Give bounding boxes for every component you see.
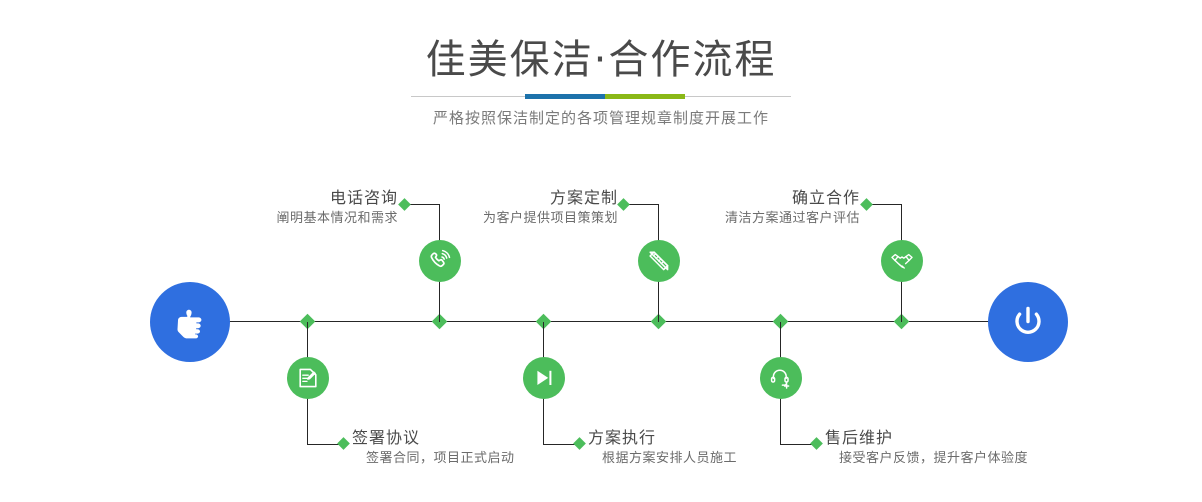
timeline-end-node[interactable] xyxy=(988,282,1068,362)
page-title: 佳美保洁·合作流程 xyxy=(0,36,1202,84)
divider-segment-olive xyxy=(605,94,685,99)
step-desc-3: 根据方案安排人员施工 xyxy=(602,449,737,469)
label-diamond-1 xyxy=(337,437,350,450)
hand-pointing-icon xyxy=(170,302,210,342)
step-icon-badge-3[interactable] xyxy=(523,357,565,399)
step-label-6: 确立合作 清洁方案通过客户评估 xyxy=(682,187,860,229)
step-desc-5: 接受客户反馈，提升客户体验度 xyxy=(839,449,1028,469)
step-title-6: 确立合作 xyxy=(682,187,860,209)
ruler-pencil-icon xyxy=(647,249,671,273)
timeline-start-node[interactable] xyxy=(150,282,230,362)
step-label-4: 方案定制 为客户提供项目策策划 xyxy=(440,187,618,229)
step-icon-badge-5[interactable] xyxy=(760,357,802,399)
play-execute-icon xyxy=(532,366,556,390)
step-icon-badge-6[interactable] xyxy=(881,240,923,282)
phone-call-icon xyxy=(428,249,452,273)
handshake-icon xyxy=(890,249,914,273)
step-desc-1: 签署合同，项目正式启动 xyxy=(366,449,515,469)
step-desc-6: 清洁方案通过客户评估 xyxy=(682,209,860,229)
power-icon xyxy=(1006,300,1050,344)
step-title-5: 售后维护 xyxy=(825,427,1028,449)
label-diamond-5 xyxy=(810,437,823,450)
step-label-5: 售后维护 接受客户反馈，提升客户体验度 xyxy=(825,427,1028,469)
step-label-1: 签署协议 签署合同，项目正式启动 xyxy=(352,427,515,469)
step-icon-badge-1[interactable] xyxy=(287,357,329,399)
step-desc-4: 为客户提供项目策策划 xyxy=(440,209,618,229)
label-diamond-4 xyxy=(617,198,630,211)
step-label-3: 方案执行 根据方案安排人员施工 xyxy=(588,427,737,469)
customer-service-add-icon xyxy=(769,366,793,390)
flowchart-canvas: 佳美保洁·合作流程 严格按照保洁制定的各项管理规章制度开展工作 xyxy=(0,0,1202,502)
page-subtitle: 严格按照保洁制定的各项管理规章制度开展工作 xyxy=(0,106,1202,130)
label-diamond-6 xyxy=(860,198,873,211)
step-title-2: 电话咨询 xyxy=(220,187,398,209)
step-icon-badge-4[interactable] xyxy=(638,240,680,282)
step-title-4: 方案定制 xyxy=(440,187,618,209)
document-sign-icon xyxy=(296,366,320,390)
label-diamond-3 xyxy=(573,437,586,450)
step-title-1: 签署协议 xyxy=(352,427,515,449)
step-title-3: 方案执行 xyxy=(588,427,737,449)
step-icon-badge-2[interactable] xyxy=(419,240,461,282)
divider-segment-blue xyxy=(525,94,605,99)
step-label-2: 电话咨询 阐明基本情况和需求 xyxy=(220,187,398,229)
step-desc-2: 阐明基本情况和需求 xyxy=(220,209,398,229)
title-divider xyxy=(411,94,791,100)
label-diamond-2 xyxy=(398,198,411,211)
